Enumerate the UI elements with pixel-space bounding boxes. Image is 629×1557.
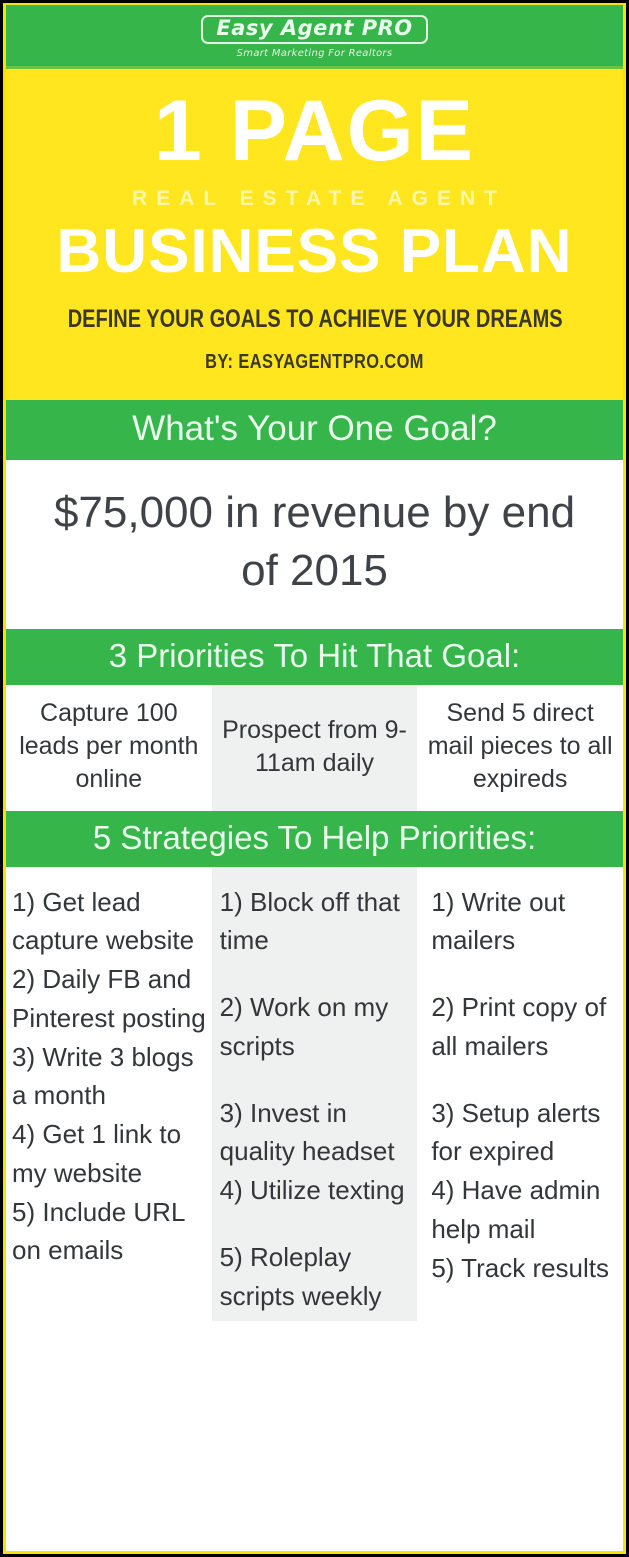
strategy-column-1: 1) Get lead capture website 2) Daily FB … (6, 867, 212, 1322)
strategy-item: 5) Roleplay scripts weekly (220, 1238, 415, 1315)
strategy-item: 1) Get lead capture website (12, 883, 209, 960)
infographic-poster: Easy Agent PRO Smart Marketing For Realt… (0, 0, 629, 1557)
strategy-list-1: 1) Get lead capture website 2) Daily FB … (6, 867, 212, 1276)
strategy-item: 4) Have admin help mail (431, 1171, 620, 1248)
hero-title-line3: BUSINESS PLAN (6, 221, 623, 283)
brand-tagline: Smart Marketing For Realtors (237, 48, 393, 59)
priority-text-2: Prospect from 9-11am daily (216, 714, 414, 780)
strategy-list-2: 1) Block off that time 2) Work on my scr… (212, 867, 418, 1322)
priority-cell-2: Prospect from 9-11am daily (212, 685, 418, 811)
goal-banner: What's Your One Goal? (6, 400, 623, 460)
priority-cell-1: Capture 100 leads per month online (6, 685, 212, 811)
hero-title-line2: REAL ESTATE AGENT (6, 187, 623, 211)
poster-inner: Easy Agent PRO Smart Marketing For Realt… (6, 5, 623, 1551)
hero-subtitle: DEFINE YOUR GOALS TO ACHIEVE YOUR DREAMS (68, 305, 562, 334)
strategy-item: 3) Setup alerts for expired (431, 1094, 620, 1171)
strategy-item: 3) Write 3 blogs a month (12, 1038, 209, 1115)
brand-logo: Easy Agent PRO (201, 15, 427, 44)
brand-header: Easy Agent PRO Smart Marketing For Realt… (6, 5, 623, 69)
strategy-item: 2) Print copy of all mailers (431, 988, 620, 1065)
priorities-columns: Capture 100 leads per month online Prosp… (6, 685, 623, 811)
hero-title-line1: 1 PAGE (6, 91, 623, 173)
priority-cell-3: Send 5 direct mail pieces to all expired… (417, 685, 623, 811)
strategy-item: 5) Include URL on emails (12, 1193, 209, 1270)
strategy-item: 2) Daily FB and Pinterest posting (12, 960, 209, 1037)
priority-text-3: Send 5 direct mail pieces to all expired… (421, 697, 619, 796)
goal-statement: $75,000 in revenue by end of 2015 (32, 484, 597, 601)
goal-block: $75,000 in revenue by end of 2015 (6, 460, 623, 629)
priority-column-2: Prospect from 9-11am daily (212, 685, 418, 811)
priorities-banner: 3 Priorities To Hit That Goal: (6, 629, 623, 685)
strategy-item: 2) Work on my scripts (220, 988, 415, 1065)
strategy-column-2: 1) Block off that time 2) Work on my scr… (212, 867, 418, 1322)
strategy-item: 5) Track results (431, 1249, 620, 1288)
strategy-list-3: 1) Write out mailers 2) Print copy of al… (417, 867, 623, 1294)
priority-text-1: Capture 100 leads per month online (10, 697, 208, 796)
strategy-item: 1) Write out mailers (431, 883, 620, 960)
strategy-item: 3) Invest in quality headset (220, 1094, 415, 1171)
strategy-column-3: 1) Write out mailers 2) Print copy of al… (417, 867, 623, 1322)
strategy-item: 4) Utilize texting (220, 1171, 415, 1210)
strategies-banner: 5 Strategies To Help Priorities: (6, 811, 623, 867)
hero-title-block: 1 PAGE REAL ESTATE AGENT BUSINESS PLAN D… (6, 69, 623, 400)
priority-column-3: Send 5 direct mail pieces to all expired… (417, 685, 623, 811)
priority-column-1: Capture 100 leads per month online (6, 685, 212, 811)
brand-logo-text: Easy Agent PRO (216, 18, 412, 39)
strategy-item: 1) Block off that time (220, 883, 415, 960)
strategy-item: 4) Get 1 link to my website (12, 1115, 209, 1192)
strategies-columns: 1) Get lead capture website 2) Daily FB … (6, 867, 623, 1322)
hero-byline: BY: EASYAGENTPRO.COM (62, 351, 568, 374)
